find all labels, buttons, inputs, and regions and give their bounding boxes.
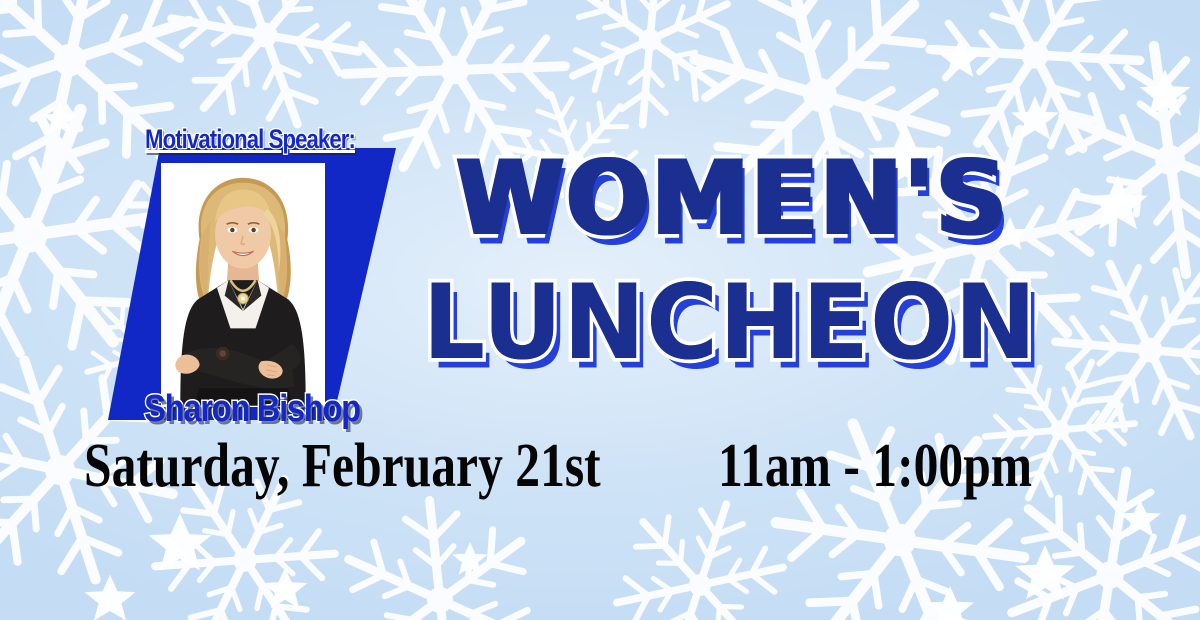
event-info-row: Saturday, February 21st 11am - 1:00pm — [0, 430, 1200, 510]
speaker-name-label: Sharon Bishop — [114, 390, 389, 428]
title-line-luncheon: LUNCHEON LUNCHEON LUNCHEON — [380, 271, 1080, 375]
speaker-portrait-image — [161, 163, 325, 407]
event-date-text: Saturday, February 21st — [84, 430, 601, 502]
event-flyer: Motivational Speaker: Sharon Bishop WOME… — [0, 0, 1200, 620]
speaker-photo-frame — [158, 160, 328, 410]
event-time-text: 11am - 1:00pm — [718, 430, 1032, 502]
title-line-luncheon-fill: LUNCHEON — [423, 263, 1038, 384]
speaker-role-label: Motivational Speaker: — [127, 126, 373, 153]
title-line-womens: WOMEN'S WOMEN'S WOMEN'S — [380, 147, 1080, 251]
title-line-womens-fill: WOMEN'S — [459, 139, 1011, 260]
event-title-block: WOMEN'S WOMEN'S WOMEN'S LUNCHEON LUNCHEO… — [380, 150, 1080, 372]
speaker-block: Motivational Speaker: Sharon Bishop — [100, 126, 400, 426]
